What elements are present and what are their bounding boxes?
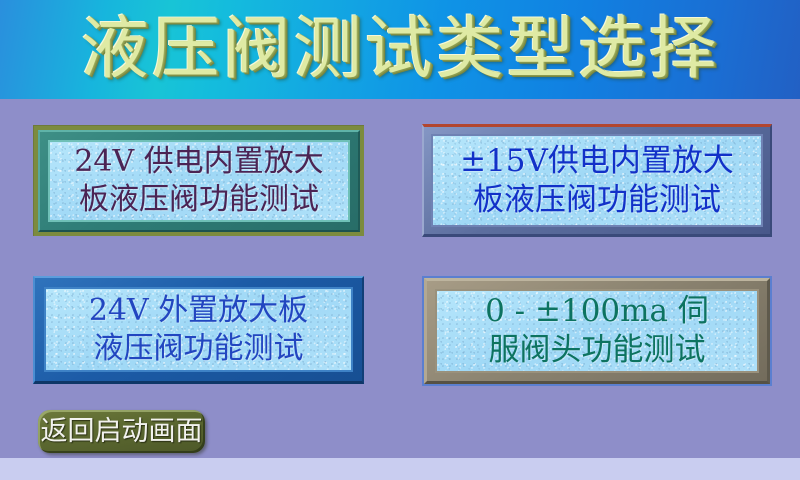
option-servo-valve-100ma-test[interactable]: 0 - ±100ma 伺 服阀头功能测试 (422, 276, 772, 386)
return-button-label: 返回启动画面 (41, 417, 203, 447)
option-label-line2: 板液压阀功能测试 (79, 181, 319, 219)
app-screen: 液压阀测试类型选择 24V 供电内置放大 板液压阀功能测试 ±15V供电内置放大… (0, 0, 800, 480)
option-frame: 0 - ±100ma 伺 服阀头功能测试 (424, 278, 770, 384)
option-24v-builtin-amplifier-test[interactable]: 24V 供电内置放大 板液压阀功能测试 (33, 125, 364, 236)
option-label-line2: 服阀头功能测试 (489, 331, 706, 370)
page-title: 液压阀测试类型选择 (0, 6, 800, 94)
option-label-line1: 24V 供电内置放大 (74, 143, 323, 181)
option-15v-builtin-amplifier-test[interactable]: ±15V供电内置放大 板液压阀功能测试 (422, 124, 772, 237)
return-to-start-screen-button[interactable]: 返回启动画面 (38, 410, 205, 453)
option-label-line1: ±15V供电内置放大 (460, 142, 734, 181)
option-panel: ±15V供电内置放大 板液压阀功能测试 (431, 134, 763, 227)
header-banner: 液压阀测试类型选择 (0, 0, 800, 99)
option-label-line1: 24V 外置放大板 (89, 292, 308, 330)
option-24v-external-amplifier-test[interactable]: 24V 外置放大板 液压阀功能测试 (33, 276, 364, 384)
option-panel: 24V 供电内置放大 板液压阀功能测试 (48, 140, 350, 222)
option-label-line1: 0 - ±100ma 伺 (485, 292, 709, 331)
option-label-line2: 液压阀功能测试 (94, 330, 304, 368)
option-frame: 24V 供电内置放大 板液压阀功能测试 (38, 130, 360, 232)
bottom-strip (0, 458, 800, 480)
option-label-line2: 板液压阀功能测试 (473, 181, 721, 220)
option-panel: 24V 外置放大板 液压阀功能测试 (44, 287, 353, 372)
option-panel: 0 - ±100ma 伺 服阀头功能测试 (435, 289, 759, 373)
